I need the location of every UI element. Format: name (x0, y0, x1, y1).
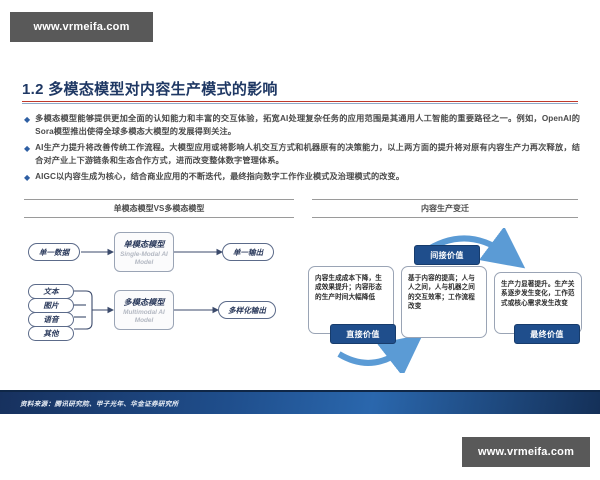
node-single-model: 单模态模型 Single-Modal AI Model (114, 232, 174, 272)
node-multi-model-cn: 多模态模型 (124, 296, 165, 308)
bullet-item: ◆ AIGC以内容生成为核心，结合商业应用的不断迭代，最终指向数字工作作业模式及… (24, 171, 580, 184)
bullet-text: 多模态模型能够提供更加全面的认知能力和丰富的交互体验，拓宽AI处理复杂任务的应用… (35, 113, 580, 138)
node-multi-model-en: Multimodal AI Model (115, 309, 173, 324)
panel-header-right: 内容生产变迁 (312, 199, 578, 218)
diamond-icon: ◆ (24, 142, 30, 155)
right-diagram: 内容生成成本下降，生成效果提升；内容形态的生产时间大幅降低 直接价值 基于内容的… (306, 228, 596, 373)
bullet-item: ◆ 多模态模型能够提供更加全面的认知能力和丰富的交互体验，拓宽AI处理复杂任务的… (24, 113, 580, 138)
diamond-icon: ◆ (24, 113, 30, 126)
node-multi-input-other: 其他 (28, 326, 74, 341)
stage-body-indirect: 基于内容的提高；人与人之间，人与机器之间的交互效率；工作流程改变 (401, 266, 487, 338)
stage-label-indirect: 间接价值 (414, 245, 480, 265)
diamond-icon: ◆ (24, 171, 30, 184)
page-title: 1.2 多模态模型对内容生产模式的影响 (22, 78, 278, 99)
watermark-bottom: www.vrmeifa.com (462, 437, 590, 467)
node-multi-input-text: 文本 (28, 284, 74, 299)
left-diagram: 单一数据 单模态模型 Single-Modal AI Model 单一输出 文本… (24, 228, 296, 373)
bullet-text: AI生产力提升将改善传统工作流程。大模型应用或将影响人机交互方式和机器原有的决策… (35, 142, 580, 167)
node-multi-output: 多样化输出 (218, 301, 276, 319)
watermark-top: www.vrmeifa.com (10, 12, 153, 42)
node-single-model-cn: 单模态模型 (124, 238, 165, 250)
stage-label-final: 最终价值 (514, 324, 580, 344)
node-single-output: 单一输出 (222, 243, 274, 261)
bullet-text: AIGC以内容生成为核心，结合商业应用的不断迭代，最终指向数字工作作业模式及治理… (35, 171, 404, 184)
panel-header-left: 单模态模型VS多模态模型 (24, 199, 294, 218)
node-single-input: 单一数据 (28, 243, 80, 261)
node-multi-input-image: 图片 (28, 298, 74, 313)
bullet-item: ◆ AI生产力提升将改善传统工作流程。大模型应用或将影响人机交互方式和机器原有的… (24, 142, 580, 167)
footer-bar: 资料来源：腾讯研究院、甲子光年、华金证券研究所 (0, 392, 600, 414)
title-rule-red (22, 101, 578, 102)
node-single-model-en: Single-Modal AI Model (115, 251, 173, 266)
bullet-list: ◆ 多模态模型能够提供更加全面的认知能力和丰富的交互体验，拓宽AI处理复杂任务的… (24, 113, 580, 188)
node-multi-input-audio: 语音 (28, 312, 74, 327)
stage-label-direct: 直接价值 (330, 324, 396, 344)
footer-source-text: 资料来源：腾讯研究院、甲子光年、华金证券研究所 (20, 398, 179, 408)
node-multi-model: 多模态模型 Multimodal AI Model (114, 290, 174, 330)
title-rule-blue (22, 103, 578, 104)
